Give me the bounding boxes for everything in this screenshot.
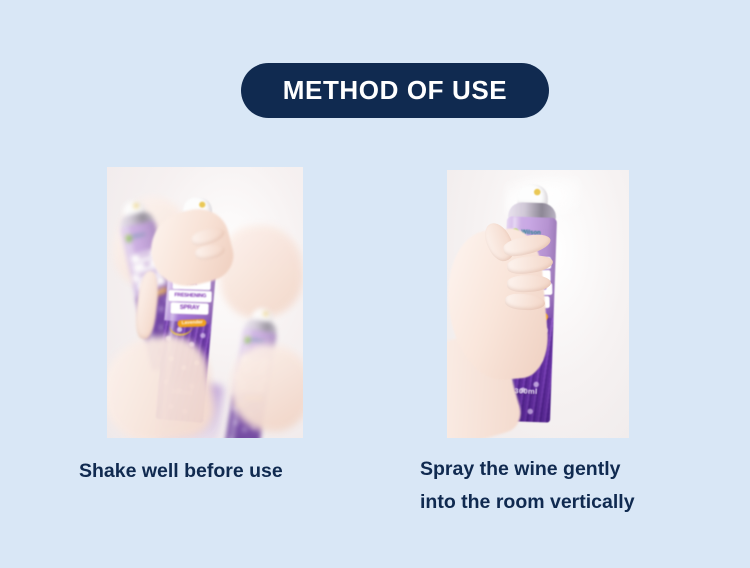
step-1-caption: Shake well before use <box>79 455 379 488</box>
step-2-caption-line-2: into the room vertically <box>420 486 720 519</box>
step-spray-vertically: Wilson ROOM AIR FRESHENING SPRAY Lavende… <box>420 170 720 519</box>
step-shake-well: Wilson ROOM AIR FRESHENING SPRAY Lavende… <box>79 167 379 488</box>
leaf-icon <box>245 337 250 344</box>
step-2-caption: Spray the wine gently into the room vert… <box>420 453 720 519</box>
step-2-image: Wilson ROOM AIR FRESHENING SPRAY Lavende… <box>447 170 629 438</box>
step-1-image: Wilson ROOM AIR FRESHENING SPRAY Lavende… <box>107 167 303 438</box>
page-title: METHOD OF USE <box>283 75 507 106</box>
step-2-caption-line-1: Spray the wine gently <box>420 453 720 486</box>
method-of-use-banner: METHOD OF USE <box>241 63 549 118</box>
